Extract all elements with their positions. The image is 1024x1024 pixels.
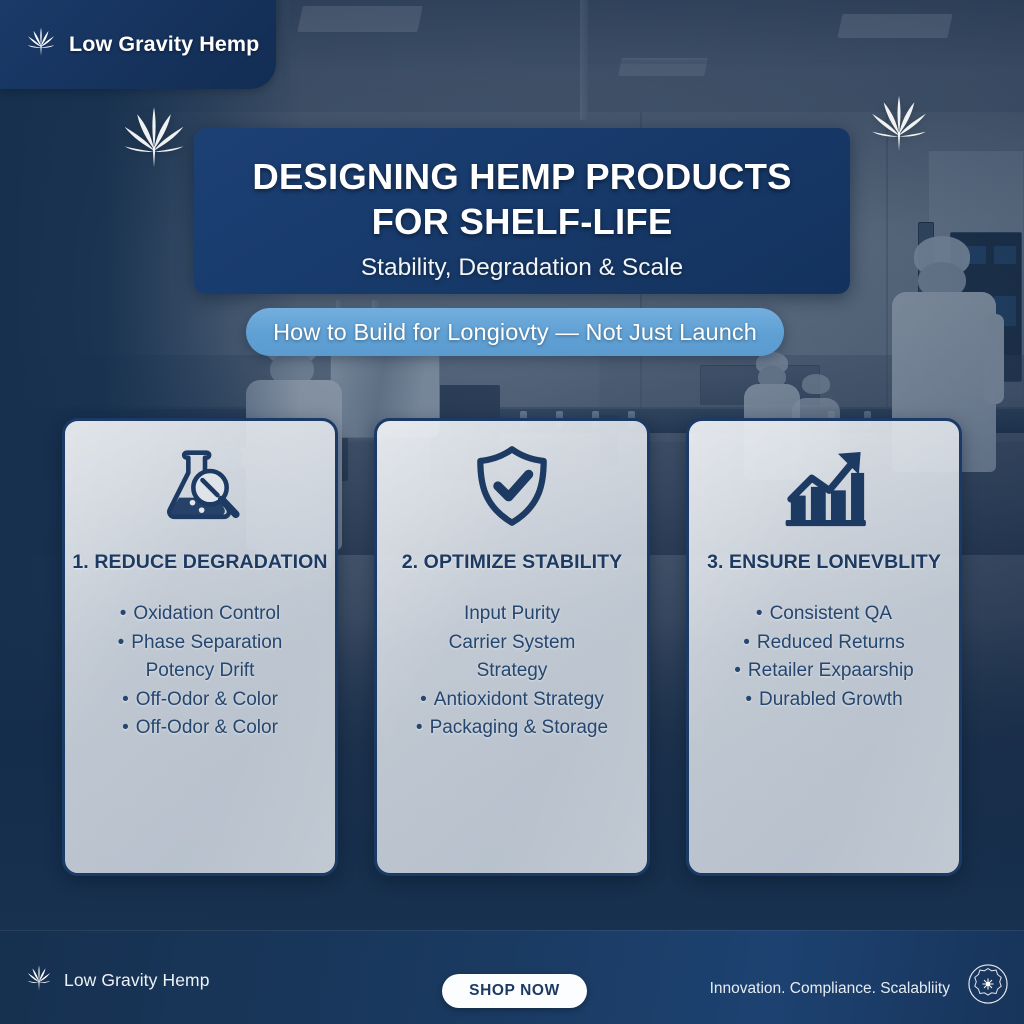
bullet-dot: • (122, 686, 129, 715)
list-item: •Reduced Returns (689, 629, 959, 658)
list-item-label: Carrier System (449, 632, 576, 653)
list-item: Input Purity (377, 600, 647, 629)
list-item-label: Reduced Returns (757, 632, 905, 653)
list-item: •Packaging & Storage (377, 714, 647, 743)
card-ensure-longevity: 3. ENSURE LONEVBLITY •Consistent QA •Red… (686, 418, 962, 876)
list-item-label: Strategy (477, 660, 548, 681)
bullet-dot: • (416, 714, 423, 743)
list-item: Potency Drift (65, 657, 335, 686)
list-item-label: Off-Odor & Color (136, 689, 278, 710)
list-item: •Oxidation Control (65, 600, 335, 629)
list-item-label: Phase Separation (131, 632, 282, 653)
subtitle-pill-label: How to Build for Longiovty — Not Just La… (273, 319, 757, 346)
cards-row: 1. REDUCE DEGRADATION •Oxidation Control… (0, 418, 1024, 880)
list-item: Strategy (377, 657, 647, 686)
list-item: •Phase Separation (65, 629, 335, 658)
footer-tagline: Innovation. Compliance. Scalabliity (710, 980, 950, 998)
card-bullet-list: •Consistent QA •Reduced Returns •Retaile… (689, 600, 959, 714)
card-bullet-list: Input Purity Carrier System Strategy •An… (377, 600, 647, 743)
list-item: •Off-Odor & Color (65, 686, 335, 715)
list-item-label: Durabled Growth (759, 689, 903, 710)
card-heading: 2. OPTIMIZE STABILITY (377, 551, 647, 574)
list-item-label: Input Purity (464, 603, 560, 624)
hemp-leaf-icon (866, 92, 932, 161)
list-item-label: Retailer Expaarship (748, 660, 914, 681)
hemp-leaf-icon (26, 27, 56, 62)
title-line-2: FOR SHELF-LIFE (224, 199, 820, 244)
list-item-label: Potency Drift (146, 660, 255, 681)
bullet-dot: • (122, 714, 129, 743)
list-item-label: Off-Odor & Color (136, 717, 278, 738)
header-brand-label: Low Gravity Hemp (69, 32, 259, 57)
list-item: •Consistent QA (689, 600, 959, 629)
certification-seal-icon (966, 962, 1010, 1006)
title-line-1: DESIGNING HEMP PRODUCTS (224, 154, 820, 199)
bullet-dot: • (120, 600, 127, 629)
header-brand-bar: Low Gravity Hemp (0, 0, 276, 89)
subtitle-pill: How to Build for Longiovty — Not Just La… (246, 308, 784, 356)
infographic-poster: Low Gravity Hemp DESIGNING HEMP PRODUCTS… (0, 0, 1024, 1024)
flask-magnifier-icon (65, 421, 335, 551)
bullet-dot: • (743, 629, 750, 658)
card-reduce-degradation: 1. REDUCE DEGRADATION •Oxidation Control… (62, 418, 338, 876)
list-item-label: Antioxidont Strategy (434, 689, 604, 710)
bullet-dot: • (756, 600, 763, 629)
list-item-label: Packaging & Storage (430, 717, 609, 738)
shop-now-label: SHOP NOW (469, 982, 560, 1000)
footer-brand-label: Low Gravity Hemp (64, 970, 210, 991)
bullet-dot: • (420, 686, 427, 715)
footer-brand: Low Gravity Hemp (26, 964, 210, 997)
growth-chart-icon (689, 421, 959, 551)
card-bullet-list: •Oxidation Control •Phase Separation Pot… (65, 600, 335, 743)
hemp-leaf-icon (118, 103, 190, 178)
hemp-leaf-icon (26, 964, 52, 997)
bullet-dot: • (734, 657, 741, 686)
list-item: •Durabled Growth (689, 686, 959, 715)
title-subtitle: Stability, Degradation & Scale (224, 251, 820, 284)
list-item: •Retailer Expaarship (689, 657, 959, 686)
list-item: •Antioxidont Strategy (377, 686, 647, 715)
shield-check-icon (377, 421, 647, 551)
list-item: •Off-Odor & Color (65, 714, 335, 743)
list-item-label: Oxidation Control (133, 603, 280, 624)
card-heading: 1. REDUCE DEGRADATION (65, 551, 335, 574)
list-item: Carrier System (377, 629, 647, 658)
card-optimize-stability: 2. OPTIMIZE STABILITY Input Purity Carri… (374, 418, 650, 876)
list-item-label: Consistent QA (770, 603, 893, 624)
bullet-dot: • (745, 686, 752, 715)
bullet-dot: • (118, 629, 125, 658)
shop-now-button[interactable]: SHOP NOW (442, 974, 587, 1008)
title-block: DESIGNING HEMP PRODUCTS FOR SHELF-LIFE S… (194, 128, 850, 294)
card-heading: 3. ENSURE LONEVBLITY (689, 551, 959, 574)
